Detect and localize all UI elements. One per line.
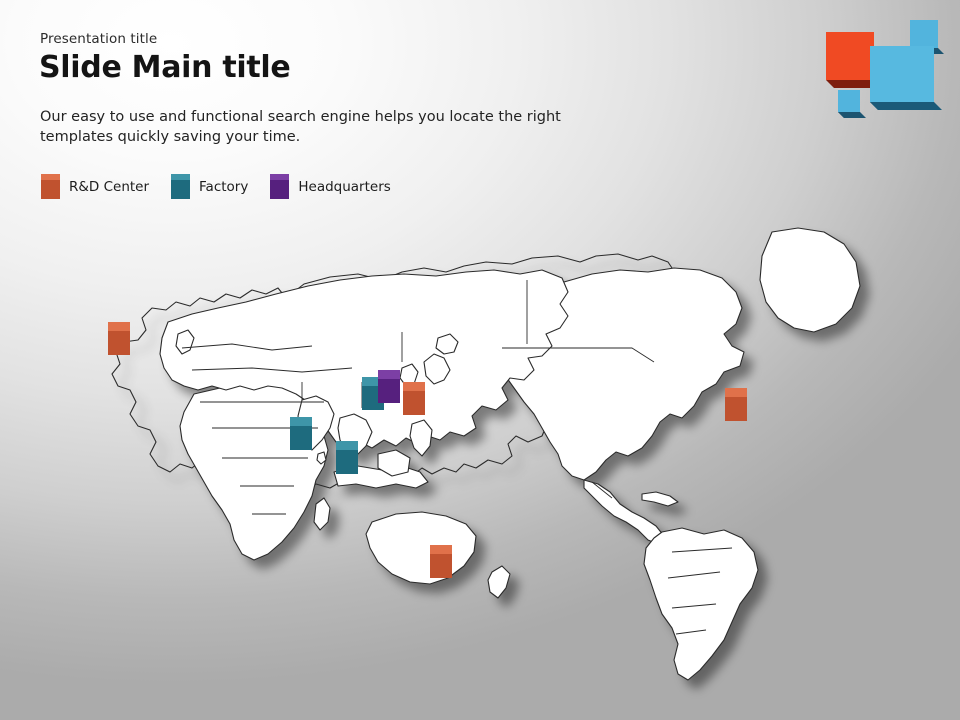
marker-cap	[336, 441, 358, 450]
legend-item-headquarters[interactable]: Headquarters	[270, 174, 390, 199]
land-caribbean	[642, 492, 678, 506]
marker-cap	[108, 322, 130, 331]
legend-swatch-headquarters	[270, 174, 289, 199]
world-map	[72, 222, 902, 652]
cube-logo-svg	[820, 14, 950, 126]
cube-logo	[820, 14, 950, 126]
marker-cap	[290, 417, 312, 426]
marker-body	[430, 554, 452, 578]
small-cube-bottom-face	[838, 90, 860, 112]
legend-swatch-rd-center	[41, 174, 60, 199]
marker-body	[403, 391, 425, 415]
marker-body	[290, 426, 312, 450]
slide-subtitle: Our easy to use and functional search en…	[40, 107, 585, 147]
swatch-body	[41, 180, 60, 199]
world-map-svg	[72, 222, 902, 652]
land-greenland	[760, 228, 860, 332]
land-philippines	[410, 420, 432, 456]
marker-body	[725, 397, 747, 421]
marker-usa[interactable]	[725, 388, 747, 421]
legend-label-factory: Factory	[199, 179, 248, 195]
land-madagascar	[314, 498, 330, 530]
page-title: Slide Main title	[39, 50, 290, 85]
land-australia	[366, 512, 476, 584]
blue-cube-face	[870, 46, 934, 102]
legend-item-factory[interactable]: Factory	[171, 174, 248, 199]
swatch-body	[270, 180, 289, 199]
swatch-body	[171, 180, 190, 199]
marker-cap	[378, 370, 400, 379]
marker-japan[interactable]	[403, 382, 425, 415]
small-cube-bottom-shadow-bottom	[838, 112, 866, 118]
marker-australia[interactable]	[430, 545, 452, 578]
legend-label-headquarters: Headquarters	[298, 179, 390, 195]
land-central-america	[584, 480, 664, 544]
small-cube-top-face	[910, 20, 938, 48]
legend-swatch-factory	[171, 174, 190, 199]
marker-body	[108, 331, 130, 355]
marker-cap	[725, 388, 747, 397]
blue-cube-shadow-bottom	[870, 102, 942, 110]
marker-body	[378, 379, 400, 403]
presentation-title: Presentation title	[40, 31, 157, 47]
orange-cube-face	[826, 32, 874, 80]
legend-label-rd-center: R&D Center	[69, 179, 149, 195]
marker-body	[336, 450, 358, 474]
map-legend: R&D Center Factory Headquarters	[41, 174, 413, 199]
marker-uk[interactable]	[108, 322, 130, 355]
legend-item-rd-center[interactable]: R&D Center	[41, 174, 149, 199]
land-new-zealand	[488, 566, 510, 598]
marker-sea[interactable]	[336, 441, 358, 474]
slide-canvas: Presentation title Slide Main title Our …	[0, 0, 960, 720]
land-south-america	[644, 528, 758, 680]
marker-cap	[403, 382, 425, 391]
marker-cap	[430, 545, 452, 554]
marker-india[interactable]	[290, 417, 312, 450]
marker-korea[interactable]	[378, 370, 400, 403]
